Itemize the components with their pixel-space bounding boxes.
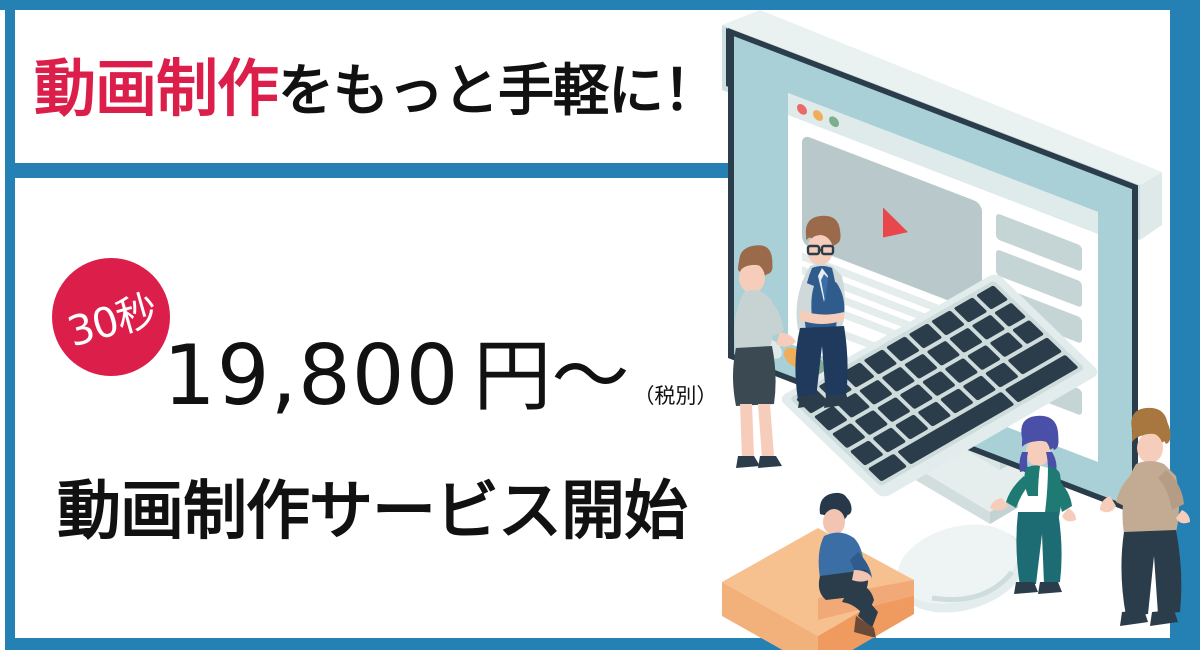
- price-amount: 19,800: [163, 337, 459, 415]
- price-row: 19,800 円〜 （税別）: [163, 337, 717, 415]
- price-unit: 円〜: [473, 339, 629, 415]
- headline-highlight: 動画制作: [34, 52, 278, 125]
- orange-box: [722, 528, 914, 650]
- divider-bar: [5, 163, 745, 178]
- promo-banner: 動画制作をもっと手軽に！ 30秒 19,800 円〜 （税別） 動画制作サービス…: [0, 0, 1200, 650]
- headline: 動画制作をもっと手軽に！: [34, 58, 718, 120]
- hero-illustration: [700, 0, 1200, 650]
- headline-rest: をもっと手軽に！: [278, 59, 718, 124]
- frame-border-left: [5, 0, 15, 648]
- subheadline: 動画制作サービス開始: [57, 480, 687, 544]
